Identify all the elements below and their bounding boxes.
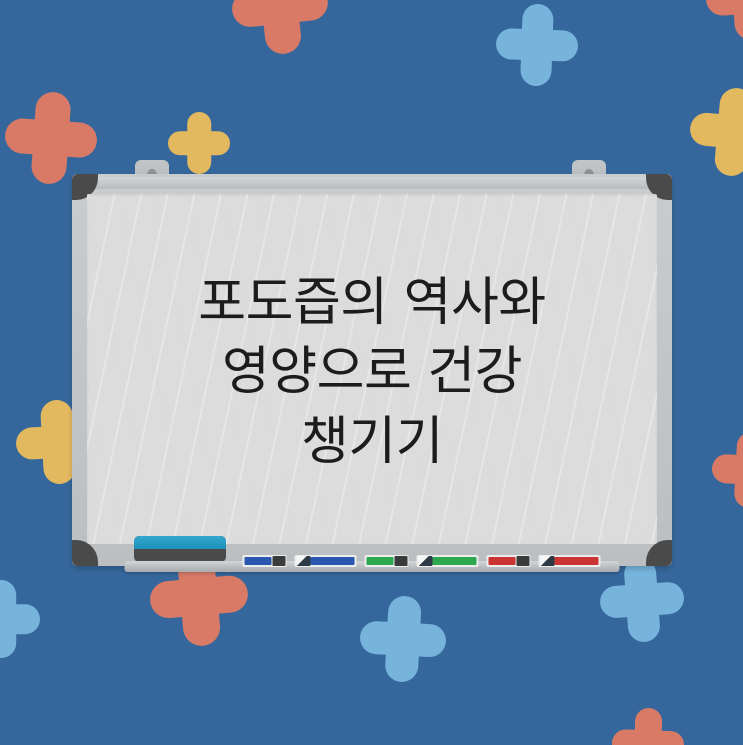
marker-1[interactable] — [243, 555, 287, 567]
cross-coral-mid-right-icon — [710, 430, 743, 510]
cross-bar-vertical — [734, 431, 743, 508]
cross-bar-vertical — [30, 91, 71, 185]
cross-blue-bottom-left-icon — [358, 594, 448, 684]
page-title: 포도즙의 역사와 영양으로 건강 챙기기 — [162, 269, 581, 476]
cross-bar-vertical — [40, 399, 76, 485]
cross-bar-vertical — [520, 3, 554, 86]
marker-5[interactable] — [487, 555, 531, 567]
cross-coral-bottom-edge-icon — [611, 707, 685, 745]
marker-barrel — [433, 557, 477, 565]
cross-bar-vertical — [0, 580, 16, 658]
marker-nib-icon — [419, 556, 433, 566]
cross-coral-top-far-right-icon — [703, 0, 743, 43]
marker-cap-icon — [517, 556, 530, 566]
frame-top-rail — [80, 177, 664, 189]
whiteboard: 포도즙의 역사와 영양으로 건강 챙기기 — [72, 160, 672, 580]
marker-tray — [125, 561, 620, 572]
whiteboard-frame: 포도즙의 역사와 영양으로 건강 챙기기 — [72, 174, 672, 566]
marker-2[interactable] — [295, 555, 357, 567]
cross-bar-vertical — [384, 595, 421, 683]
whiteboard-surface: 포도즙의 역사와 영양으로 건강 챙기기 — [87, 194, 657, 544]
cross-blue-top-right-icon — [495, 3, 580, 88]
cross-bar-vertical — [714, 87, 743, 178]
marker-6[interactable] — [539, 555, 601, 567]
cross-bar-vertical — [257, 0, 303, 56]
marker-barrel — [245, 557, 272, 565]
cross-blue-left-edge-icon — [0, 580, 40, 658]
cross-bar-vertical — [633, 708, 663, 745]
marker-barrel — [555, 557, 599, 565]
cross-yellow-upper-right-icon — [686, 84, 743, 179]
marker-4[interactable] — [417, 555, 479, 567]
marker-nib-icon — [297, 556, 311, 566]
cross-coral-top-center-icon — [227, 0, 333, 59]
poster-canvas: 포도즙의 역사와 영양으로 건강 챙기기 — [0, 0, 743, 745]
marker-nib-icon — [541, 556, 555, 566]
eraser-felt — [134, 536, 226, 549]
marker-barrel — [489, 557, 516, 565]
marker-cap-icon — [395, 556, 408, 566]
whiteboard-eraser[interactable] — [134, 536, 226, 562]
marker-3[interactable] — [365, 555, 409, 567]
marker-barrel — [311, 557, 355, 565]
marker-cap-icon — [273, 556, 286, 566]
marker-barrel — [367, 557, 394, 565]
